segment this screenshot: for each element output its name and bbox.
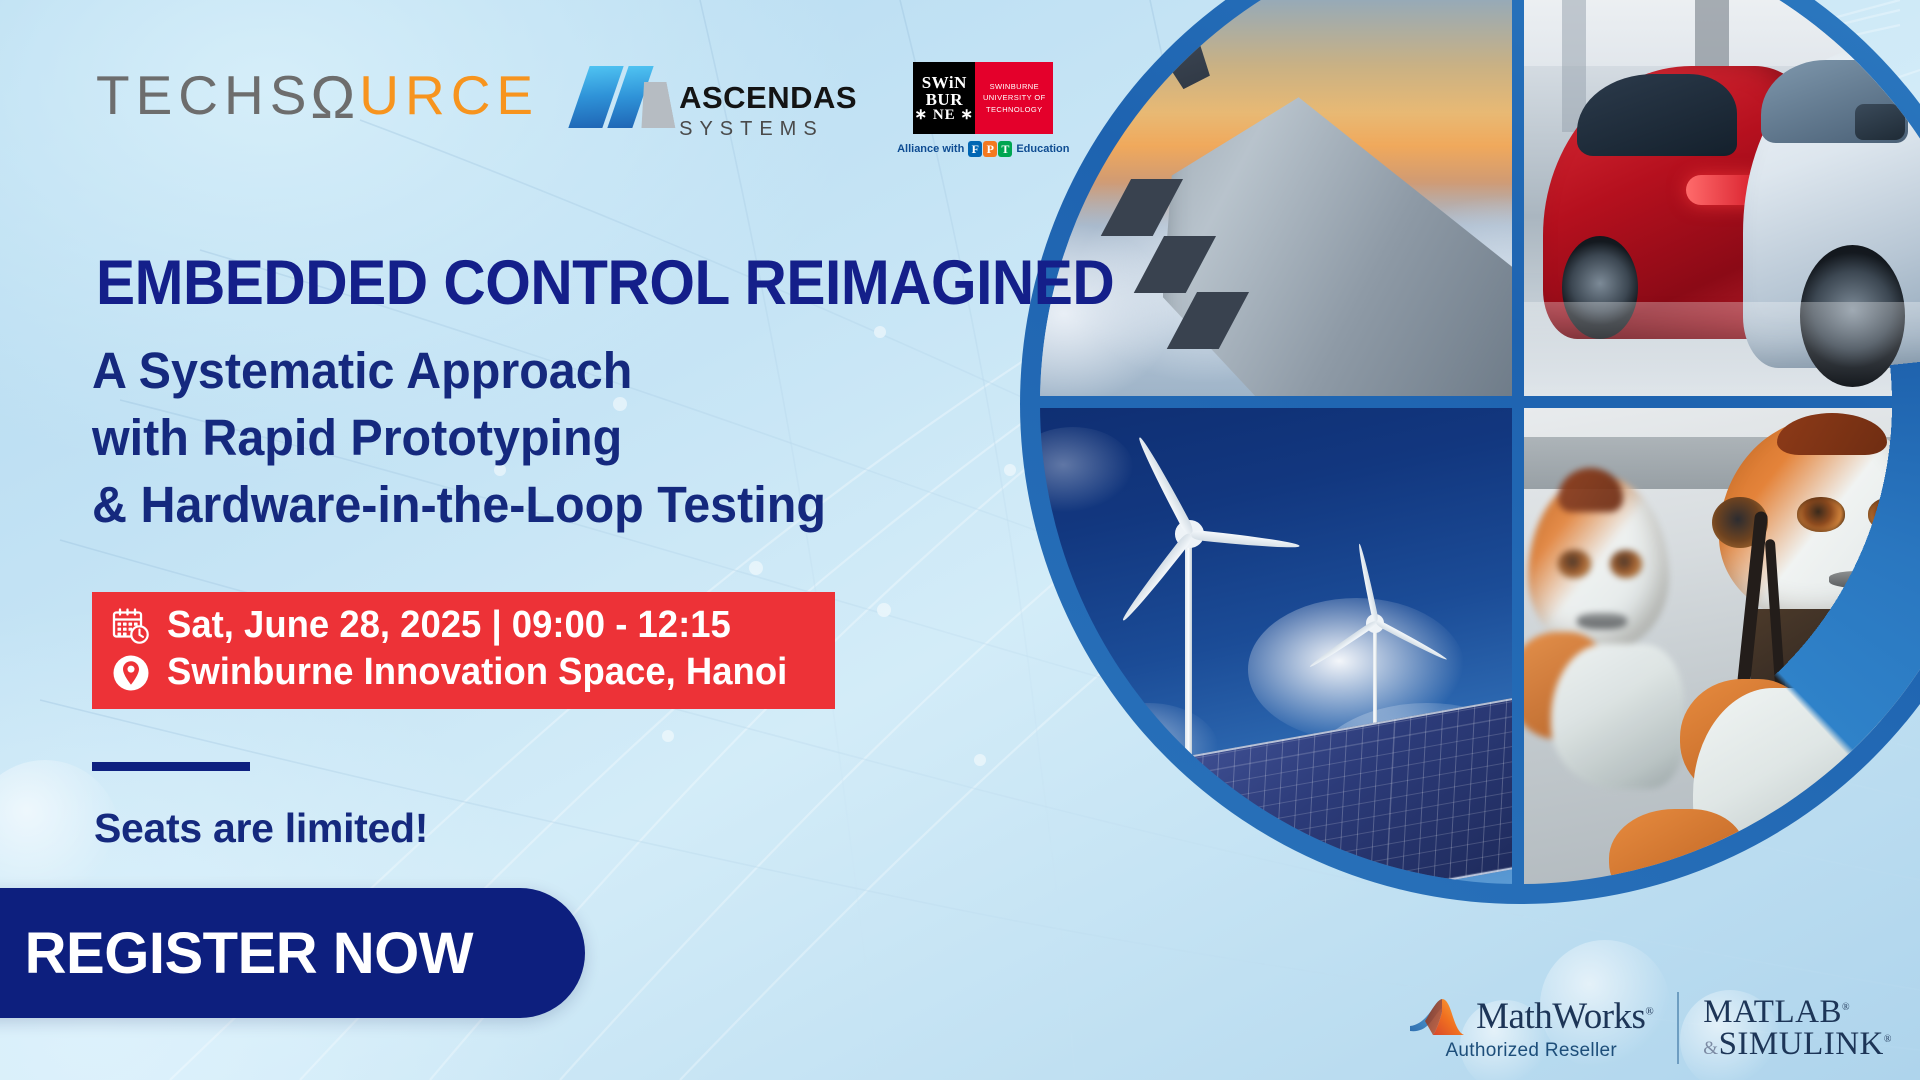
- swinburne-mark-line-3: ∗ NE ∗: [915, 108, 974, 123]
- alliance-suffix-label: Education: [1016, 143, 1069, 155]
- event-venue: Swinburne Innovation Space, Hanoi: [167, 652, 787, 694]
- matlab-trademark: ®: [1842, 1002, 1850, 1013]
- mathworks-membrane-icon: [1409, 995, 1465, 1039]
- mathworks-name-text: MathWorks: [1476, 996, 1645, 1037]
- swinburne-logo-box: SWiN BUR ∗ NE ∗ SWINBURNE UNIVERSITY OF …: [913, 62, 1053, 134]
- fpt-logo-icon: F P T: [968, 141, 1012, 157]
- event-headline: EMBEDDED CONTROL REIMAGINED: [96, 252, 1114, 315]
- fpt-letter-t: T: [998, 141, 1012, 157]
- subheadline-line-1: A Systematic Approach: [92, 338, 826, 405]
- subheadline-line-3: & Hardware-in-the-Loop Testing: [92, 472, 826, 539]
- fpt-letter-p: P: [983, 141, 997, 157]
- fpt-letter-f: F: [968, 141, 982, 157]
- event-details-panel: Sat, June 28, 2025 | 09:00 - 12:15 Swinb…: [92, 592, 835, 709]
- partner-logo-bar: TECHSΩURCE ASCENDAS SYSTEMS SWiN BUR ∗ N…: [96, 62, 1070, 157]
- swinburne-full-line-2: UNIVERSITY OF: [983, 92, 1046, 104]
- event-date-time: Sat, June 28, 2025 | 09:00 - 12:15: [167, 605, 731, 647]
- matlab-simulink-logo[interactable]: MATLAB® &SIMULINK®: [1703, 996, 1892, 1061]
- seats-limited-text: Seats are limited!: [94, 805, 428, 852]
- subheadline-line-2: with Rapid Prototyping: [92, 405, 826, 472]
- mathworks-authorized-reseller-logo[interactable]: MathWorks® Authorized Reseller: [1409, 995, 1653, 1062]
- ascendas-mark-icon: [579, 66, 671, 128]
- register-now-label: REGISTER NOW: [25, 920, 473, 987]
- swinburne-red-panel: SWINBURNE UNIVERSITY OF TECHNOLOGY: [975, 62, 1053, 134]
- register-now-button[interactable]: REGISTER NOW: [0, 888, 585, 1018]
- event-date-row: Sat, June 28, 2025 | 09:00 - 12:15: [110, 605, 813, 647]
- event-subheadline: A Systematic Approach with Rapid Prototy…: [92, 338, 826, 538]
- event-banner: TECHSΩURCE ASCENDAS SYSTEMS SWiN BUR ∗ N…: [0, 0, 1920, 1080]
- simulink-text: SIMULINK: [1719, 1026, 1884, 1062]
- industry-image-collage: [1020, 0, 1920, 904]
- ascendas-systems-logo[interactable]: ASCENDAS SYSTEMS: [579, 62, 857, 145]
- location-pin-icon: [110, 652, 152, 694]
- simulink-trademark: ®: [1884, 1034, 1892, 1045]
- simulink-wordmark: &SIMULINK®: [1703, 1028, 1892, 1060]
- mathworks-trademark: ®: [1645, 1006, 1653, 1018]
- section-divider: [92, 762, 250, 771]
- authorized-reseller-label: Authorized Reseller: [1445, 1040, 1617, 1062]
- ascendas-subtitle: SYSTEMS: [679, 113, 857, 145]
- calendar-clock-icon: [110, 605, 152, 647]
- techsource-logo[interactable]: TECHSΩURCE: [96, 62, 539, 126]
- swinburne-black-panel: SWiN BUR ∗ NE ∗: [913, 62, 975, 134]
- mathworks-wordmark: MathWorks®: [1476, 998, 1653, 1035]
- footer-vertical-rule: [1677, 992, 1679, 1064]
- techsource-wordmark: TECHSΩURCE: [96, 64, 539, 124]
- swinburne-mark-line-1: SWiN: [922, 74, 967, 91]
- swinburne-mark-line-2: BUR: [926, 91, 963, 108]
- fpt-alliance-line: Alliance with F P T Education: [897, 141, 1069, 157]
- ascendas-wordmark: ASCENDAS SYSTEMS: [679, 66, 857, 145]
- event-venue-row: Swinburne Innovation Space, Hanoi: [110, 652, 813, 694]
- swinburne-full-line-3: TECHNOLOGY: [986, 104, 1043, 116]
- ampersand-text: &: [1703, 1038, 1718, 1059]
- swinburne-university-logo[interactable]: SWiN BUR ∗ NE ∗ SWINBURNE UNIVERSITY OF …: [897, 62, 1069, 157]
- matlab-wordmark: MATLAB®: [1703, 996, 1892, 1028]
- swinburne-full-line-1: SWINBURNE: [990, 81, 1039, 93]
- mathworks-partner-footer: MathWorks® Authorized Reseller MATLAB® &…: [1409, 992, 1892, 1064]
- ascendas-name: ASCENDAS: [679, 82, 857, 113]
- techsource-part-2: URCE: [359, 64, 539, 126]
- mathworks-lockup: MathWorks®: [1409, 995, 1653, 1039]
- omega-icon: Ω: [310, 68, 361, 128]
- alliance-prefix-label: Alliance with: [897, 143, 964, 155]
- techsource-part-1: TECHS: [96, 64, 312, 126]
- matlab-text: MATLAB: [1703, 994, 1842, 1030]
